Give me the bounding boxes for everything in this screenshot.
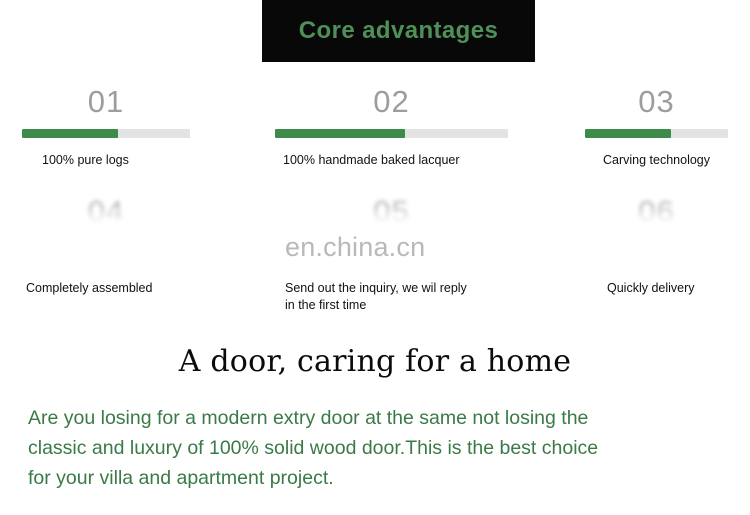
feature-caption: Send out the inquiry, we wil reply in th… xyxy=(275,280,515,314)
core-advantages-banner: Core advantages xyxy=(262,0,535,62)
feature-item-02: 02 100% handmade baked lacquer xyxy=(275,86,515,169)
body-line-3: for your villa and apartment project. xyxy=(28,464,718,494)
feature-caption: 100% pure logs xyxy=(22,152,237,169)
feature-caption: Carving technology xyxy=(585,152,745,169)
promo-page: Core advantages 01 100% pure logs 02 100… xyxy=(0,0,750,515)
feature-number: 06 xyxy=(585,196,728,230)
feature-grid: 01 100% pure logs 02 100% handmade baked… xyxy=(0,86,750,314)
feature-item-06: 06 Quickly delivery xyxy=(585,196,745,297)
feature-item-04: 04 Completely assembled xyxy=(22,196,237,297)
feature-caption: Completely assembled xyxy=(22,280,237,297)
progress-track xyxy=(22,129,190,138)
body-line-1: Are you losing for a modern extry door a… xyxy=(28,404,718,434)
feature-number: 03 xyxy=(585,86,728,120)
feature-number: 02 xyxy=(275,86,508,120)
progress-fill xyxy=(275,129,405,138)
body-line-2: classic and luxury of 100% solid wood do… xyxy=(28,434,718,464)
feature-item-03: 03 Carving technology xyxy=(585,86,745,169)
feature-caption: Quickly delivery xyxy=(585,280,745,297)
feature-number: 04 xyxy=(22,196,190,230)
progress-fill xyxy=(22,129,118,138)
feature-item-01: 01 100% pure logs xyxy=(22,86,237,169)
feature-caption: 100% handmade baked lacquer xyxy=(275,152,515,169)
headline: A door, caring for a home xyxy=(0,344,750,379)
feature-number: 01 xyxy=(22,86,190,120)
feature-number: 05 xyxy=(275,196,508,230)
progress-track xyxy=(275,129,508,138)
feature-item-05: 05 Send out the inquiry, we wil reply in… xyxy=(275,196,515,314)
feature-row: 04 Completely assembled 05 Send out the … xyxy=(0,196,750,314)
feature-row: 01 100% pure logs 02 100% handmade baked… xyxy=(0,86,750,196)
banner-title: Core advantages xyxy=(299,17,498,45)
body-copy: Are you losing for a modern extry door a… xyxy=(28,404,718,493)
progress-track xyxy=(585,129,728,138)
progress-fill xyxy=(585,129,671,138)
